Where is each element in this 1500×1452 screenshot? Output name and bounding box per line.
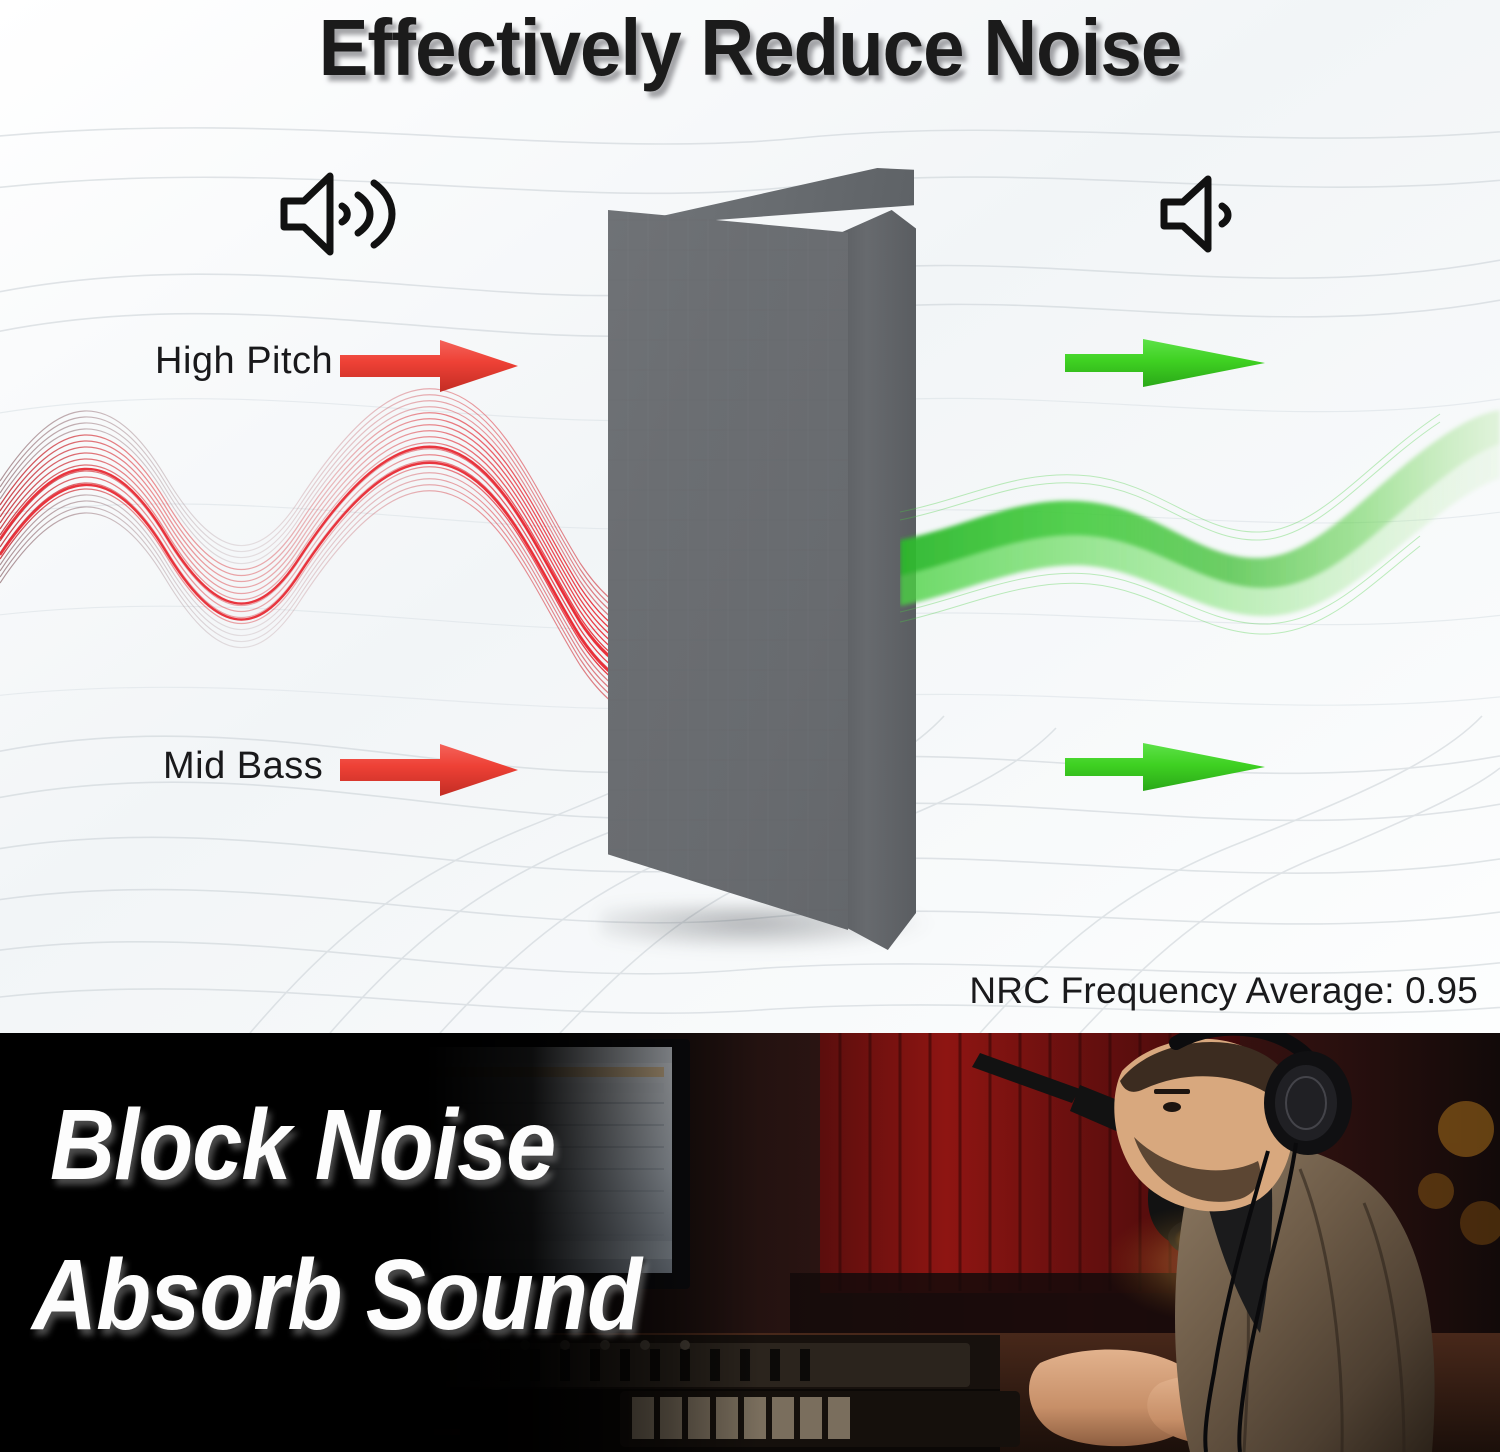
reduce-noise-section: Effectively Reduce Noise: [0, 0, 1500, 1033]
green-arrow-top-icon: [1065, 334, 1265, 392]
product-infographic: Effectively Reduce Noise: [0, 0, 1500, 1452]
panel-front-face: [608, 210, 848, 930]
speaker-quiet-icon: [1158, 172, 1266, 256]
page-title: Effectively Reduce Noise: [53, 2, 1448, 94]
speaker-loud-icon: [278, 168, 406, 260]
red-arrow-high-pitch-icon: [340, 338, 518, 394]
outgoing-sound-wave-green: [900, 390, 1500, 680]
bottom-headline-line2: Absorb Sound: [32, 1238, 641, 1353]
acoustic-foam-panel: [608, 168, 914, 943]
label-high-pitch: High Pitch: [155, 340, 333, 383]
bottom-headline-line1: Block Noise: [50, 1088, 555, 1203]
panel-fabric-texture: [608, 210, 848, 930]
label-mid-bass: Mid Bass: [163, 745, 323, 788]
nrc-rating-text: NRC Frequency Average: 0.95: [969, 970, 1478, 1012]
green-arrow-bottom-icon: [1065, 738, 1265, 796]
red-arrow-mid-bass-icon: [340, 742, 518, 798]
